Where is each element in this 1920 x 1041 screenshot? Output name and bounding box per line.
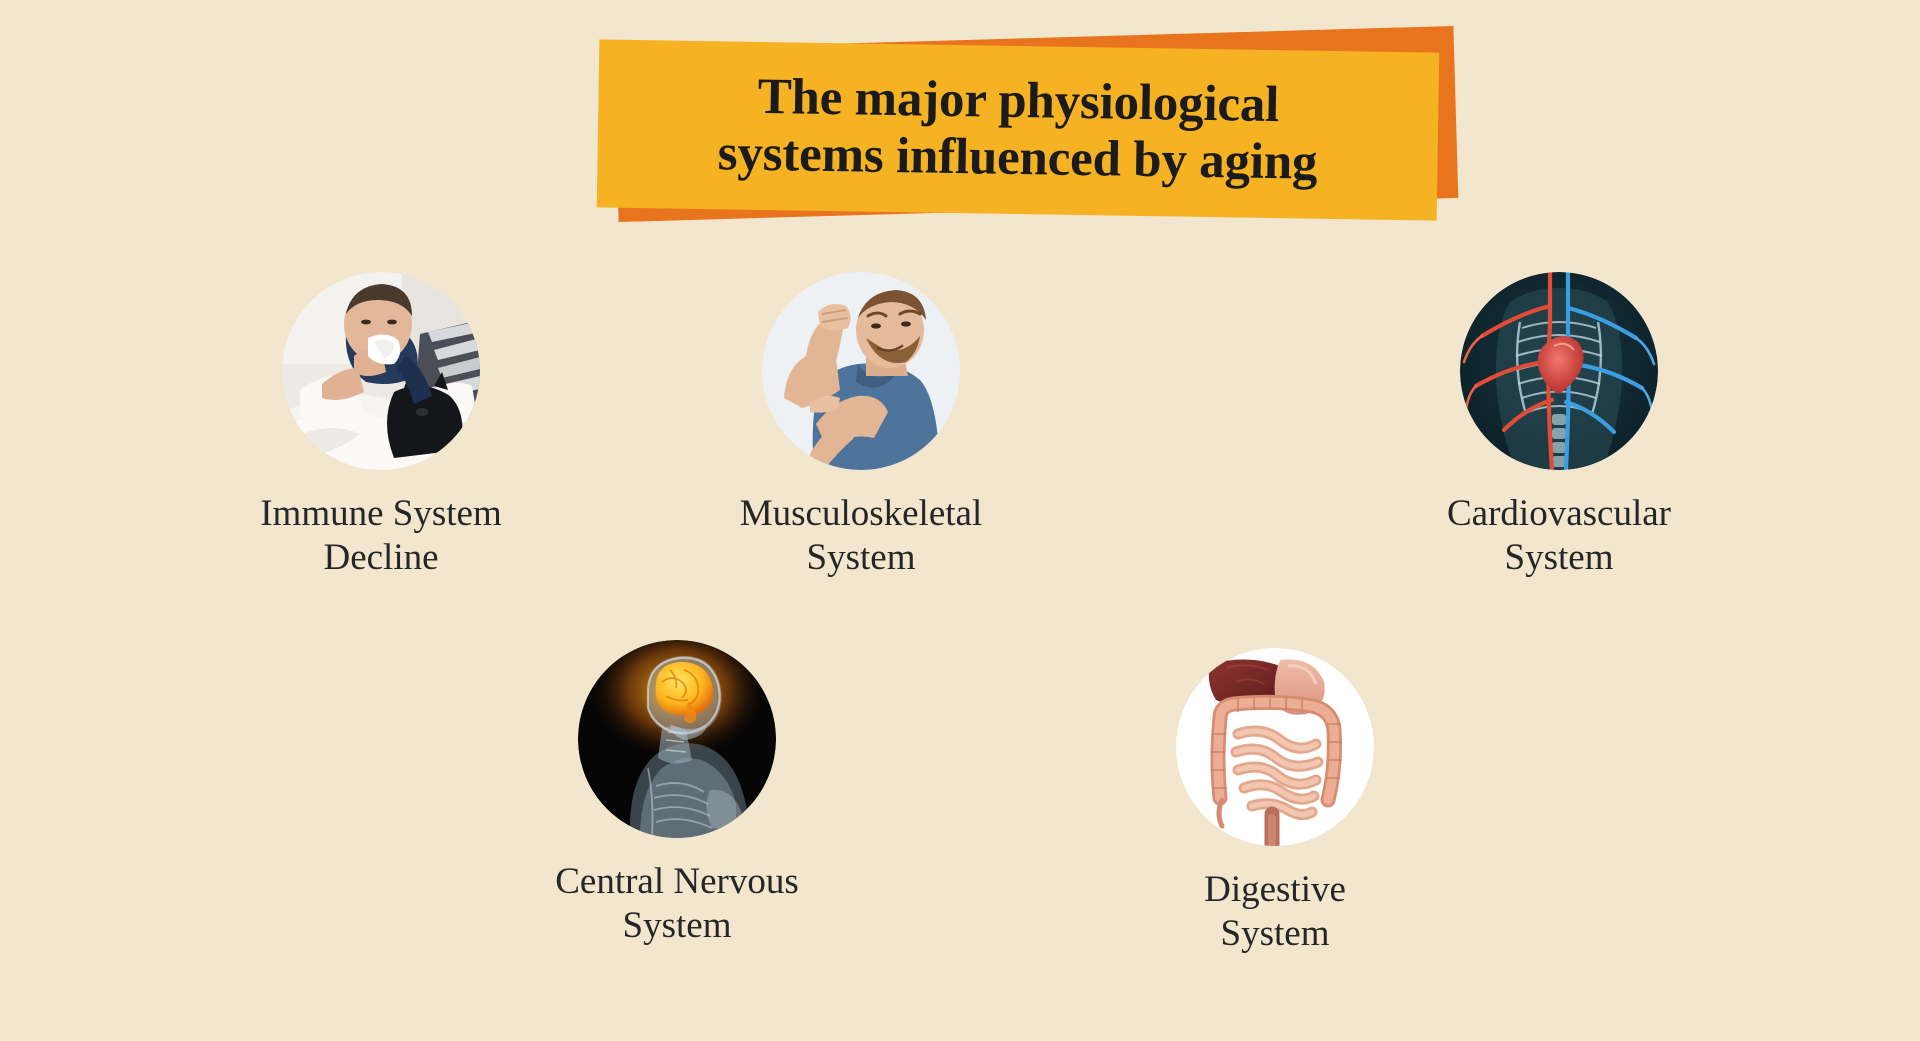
card-digestive-system[interactable]: Digestive System: [1125, 648, 1425, 956]
card-label: Cardiovascular System: [1409, 492, 1709, 580]
man-pointing-at-bicep-photo: [762, 272, 960, 470]
digestive-tract-render: [1176, 648, 1374, 846]
card-label: Central Nervous System: [527, 860, 827, 948]
glowing-brain-xray-render: [578, 640, 776, 838]
card-immune-system-decline[interactable]: Immune System Decline: [231, 272, 531, 580]
card-label: Immune System Decline: [231, 492, 531, 580]
circulatory-system-render: [1460, 272, 1658, 470]
title-banner: The major physiological systems influenc…: [598, 38, 1450, 216]
card-cardiovascular-system[interactable]: Cardiovascular System: [1409, 272, 1709, 580]
slide-canvas: The major physiological systems influenc…: [0, 0, 1920, 1041]
card-central-nervous-system[interactable]: Central Nervous System: [527, 640, 827, 948]
card-label: Digestive System: [1125, 868, 1425, 956]
title-banner-body: The major physiological systems influenc…: [597, 39, 1440, 220]
card-musculoskeletal-system[interactable]: Musculoskeletal System: [711, 272, 1011, 580]
page-title: The major physiological systems influenc…: [699, 68, 1336, 192]
sick-man-in-bed-photo: [282, 272, 480, 470]
card-label: Musculoskeletal System: [711, 492, 1011, 580]
